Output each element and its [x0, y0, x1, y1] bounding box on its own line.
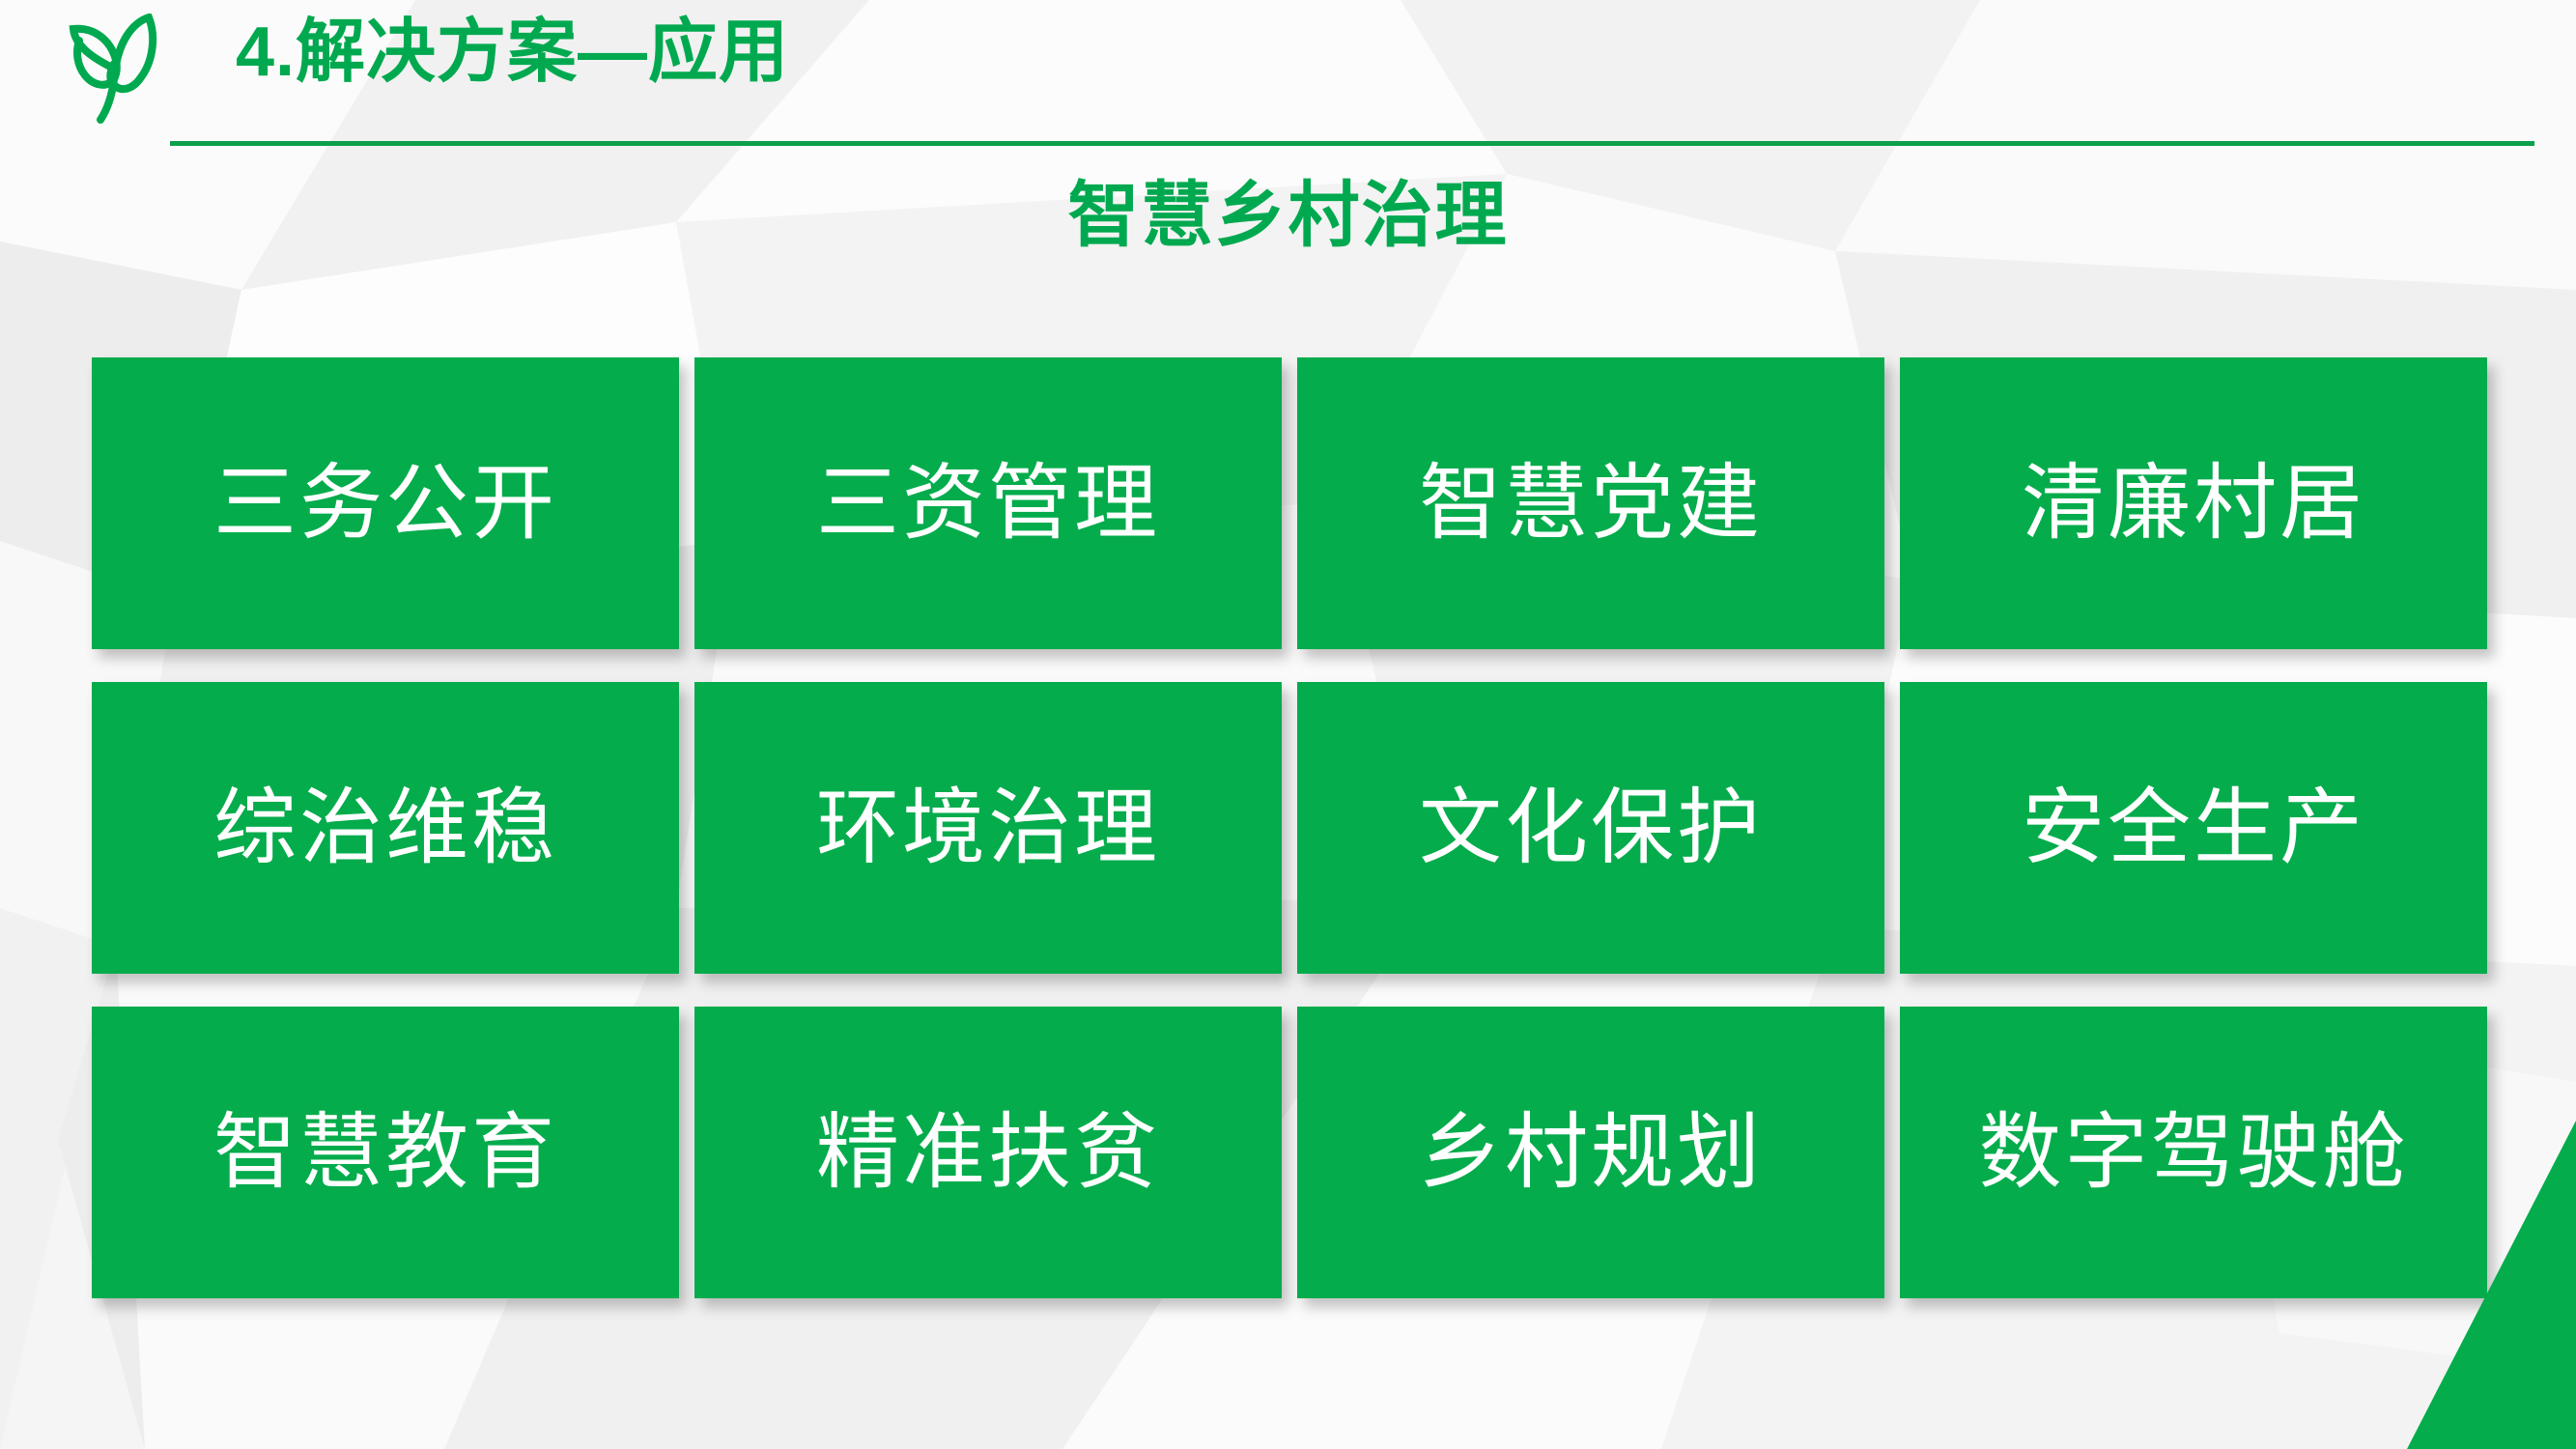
tile-label: 清廉村居 — [2022, 462, 2365, 545]
slide-header: 4.解决方案—应用 — [0, 0, 2576, 164]
tile-huan-jing-zhi-li[interactable]: 环境治理 — [694, 682, 1282, 974]
tile-label: 智慧党建 — [1419, 462, 1763, 545]
tile-qing-lian-cun-ju[interactable]: 清廉村居 — [1900, 357, 2487, 649]
tile-label: 安全生产 — [2022, 786, 2365, 869]
tile-xiang-cun-gui-hua[interactable]: 乡村规划 — [1297, 1007, 1884, 1298]
tile-label: 智慧教育 — [213, 1111, 557, 1194]
tile-jing-zhun-fu-pin[interactable]: 精准扶贫 — [694, 1007, 1282, 1298]
tile-label: 环境治理 — [816, 786, 1160, 869]
tile-san-wu-gong-kai[interactable]: 三务公开 — [92, 357, 679, 649]
tile-san-zi-guan-li[interactable]: 三资管理 — [694, 357, 1282, 649]
tile-label: 三务公开 — [213, 462, 557, 545]
application-tile-grid: 三务公开 三资管理 智慧党建 清廉村居 综治维稳 环境治理 文化保护 安全生产 … — [92, 357, 2487, 1298]
tile-zhi-hui-dang-jian[interactable]: 智慧党建 — [1297, 357, 1884, 649]
slide-canvas: 4.解决方案—应用 智慧乡村治理 三务公开 三资管理 智慧党建 清廉村居 综治维… — [0, 0, 2576, 1449]
tile-label: 三资管理 — [816, 462, 1160, 545]
tile-shu-zi-jia-shi-cang[interactable]: 数字驾驶舱 — [1900, 1007, 2487, 1298]
header-divider — [170, 141, 2534, 146]
tile-label: 数字驾驶舱 — [1979, 1111, 2409, 1194]
tile-wen-hua-bao-hu[interactable]: 文化保护 — [1297, 682, 1884, 974]
tile-an-quan-sheng-chan[interactable]: 安全生产 — [1900, 682, 2487, 974]
tile-zhi-hui-jiao-yu[interactable]: 智慧教育 — [92, 1007, 679, 1298]
tile-zong-zhi-wei-wen[interactable]: 综治维稳 — [92, 682, 679, 974]
page-title: 4.解决方案—应用 — [236, 17, 789, 87]
section-subtitle: 智慧乡村治理 — [0, 180, 2576, 251]
tile-label: 精准扶贫 — [816, 1111, 1160, 1194]
tile-label: 乡村规划 — [1419, 1111, 1763, 1194]
tile-label: 文化保护 — [1419, 786, 1763, 869]
leaf-pair-icon — [60, 14, 168, 128]
tile-label: 综治维稳 — [213, 786, 557, 869]
